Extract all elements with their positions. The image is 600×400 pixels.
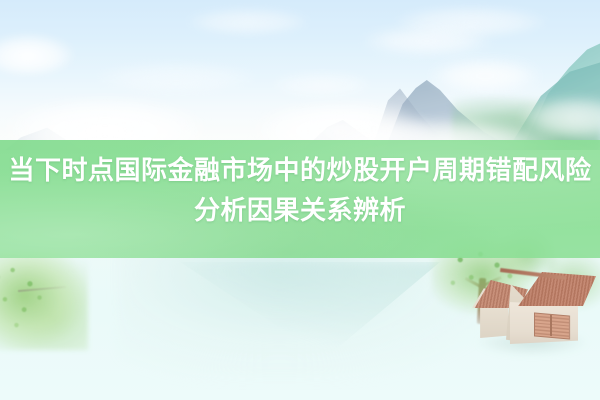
cloud-icon [272,72,372,96]
cottage-illustration [470,272,598,368]
house-window [534,312,570,339]
title-line-1: 当下时点国际金融市场中的炒股开户周期错配风险 [0,150,600,190]
landscape-banner: 当下时点国际金融市场中的炒股开户周期错配风险 分析因果关系辨析 [0,0,600,400]
house-window-mullion [550,315,552,336]
cloud-icon [188,8,308,34]
tree-leaf-texture [0,258,76,344]
title-line-2: 分析因果关系辨析 [0,190,600,230]
banner-title: 当下时点国际金融市场中的炒股开户周期错配风险 分析因果关系辨析 [0,150,600,230]
cloud-icon [396,6,546,36]
cloud-icon [96,62,256,92]
